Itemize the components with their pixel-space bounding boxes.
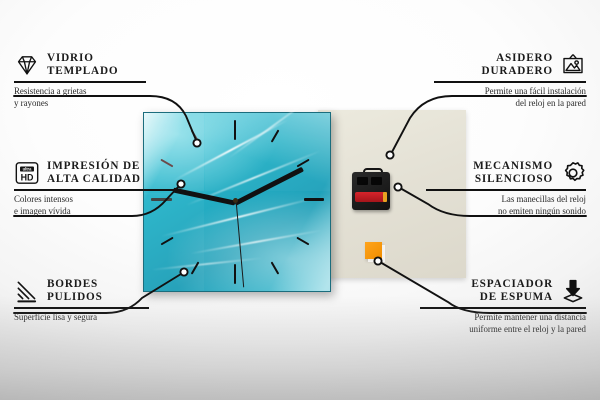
down-arrow-spacer-icon [560, 278, 586, 304]
feature-description: Resistencia a grietas y rayones [14, 86, 146, 108]
infographic-canvas: VIDRIO TEMPLADO Resistencia a grietas y … [0, 0, 600, 400]
leader-endpoint-impresion [177, 180, 184, 187]
feature-description: Permite una fácil instalación del reloj … [434, 86, 586, 108]
title-rule [420, 307, 586, 309]
feature-title: ASIDERO DURADERO [482, 52, 553, 79]
svg-text:HD: HD [21, 173, 34, 183]
feature-description: Superficie lisa y segura [14, 312, 149, 323]
feature-description: Permite mantener una distancia uniforme … [420, 312, 586, 334]
ultra-hd-icon: ultra HD [14, 160, 40, 186]
diagonal-lines-icon [14, 278, 40, 304]
feature-espaciador-de-espuma: ESPACIADOR DE ESPUMA Permite mantener un… [420, 278, 586, 335]
title-rule [14, 189, 174, 191]
title-rule [14, 81, 146, 83]
leader-endpoint-mecanismo [394, 183, 401, 190]
feature-title: BORDES PULIDOS [47, 278, 103, 305]
feature-title: IMPRESIÓN DE ALTA CALIDAD [47, 160, 141, 187]
feature-bordes-pulidos: BORDES PULIDOS Superficie lisa y segura [14, 278, 149, 324]
svg-text:ultra: ultra [23, 167, 33, 172]
leader-endpoint-asidero [386, 151, 393, 158]
feature-title: ESPACIADOR DE ESPUMA [471, 278, 553, 305]
feature-description: Las manecillas del reloj no emiten ningú… [426, 194, 586, 216]
title-rule [434, 81, 586, 83]
leader-endpoint-espaciador [374, 257, 381, 264]
leader-endpoint-vidrio [193, 139, 200, 146]
feature-title: VIDRIO TEMPLADO [47, 52, 118, 79]
gear-icon [560, 160, 586, 186]
title-rule [426, 189, 586, 191]
feature-title: MECANISMO SILENCIOSO [473, 160, 553, 187]
feature-asidero-duradero: ASIDERO DURADERO Permite una fácil insta… [434, 52, 586, 109]
diamond-icon [14, 52, 40, 78]
leader-endpoint-bordes [180, 268, 187, 275]
hanging-frame-icon [560, 52, 586, 78]
feature-description: Colores intensos e imagen vívida [14, 194, 174, 216]
feature-vidrio-templado: VIDRIO TEMPLADO Resistencia a grietas y … [14, 52, 146, 109]
feature-mecanismo-silencioso: MECANISMO SILENCIOSO Las manecillas del … [426, 160, 586, 217]
feature-impresion-alta-calidad: ultra HD IMPRESIÓN DE ALTA CALIDAD Color… [14, 160, 174, 217]
title-rule [14, 307, 149, 309]
